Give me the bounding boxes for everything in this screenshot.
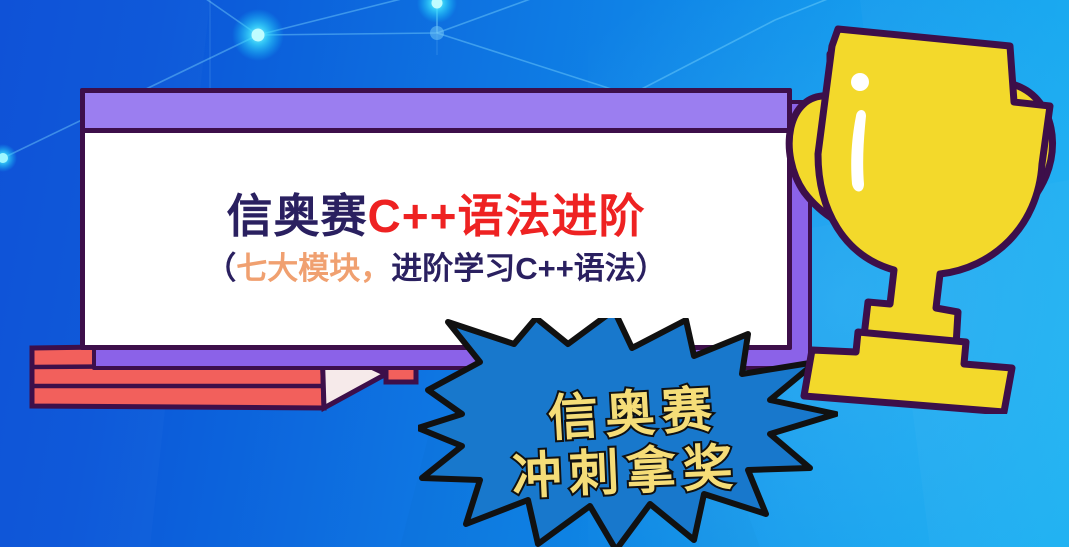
- content-board: 信奥赛C++语法进阶 （七大模块，进阶学习C++语法）: [80, 88, 792, 350]
- subtitle-paren-open: （: [205, 251, 236, 286]
- board-header-bar: [85, 93, 787, 133]
- subtitle-orange-part: 七大模块，: [236, 251, 391, 286]
- title-navy-part: 信奥赛: [227, 190, 368, 242]
- board-body: 信奥赛C++语法进阶 （七大模块，进阶学习C++语法）: [85, 138, 787, 345]
- page-title: 信奥赛C++语法进阶: [227, 193, 646, 239]
- poster-canvas: 信奥赛C++语法进阶 （七大模块，进阶学习C++语法） 信奥赛 冲刺拿奖: [0, 0, 1069, 547]
- title-red-part: C++语法进阶: [368, 190, 646, 242]
- subtitle-navy-part: 进阶学习C++语法: [391, 251, 636, 286]
- page-subtitle: （七大模块，进阶学习C++语法）: [205, 253, 667, 284]
- subtitle-paren-close: ）: [636, 251, 667, 286]
